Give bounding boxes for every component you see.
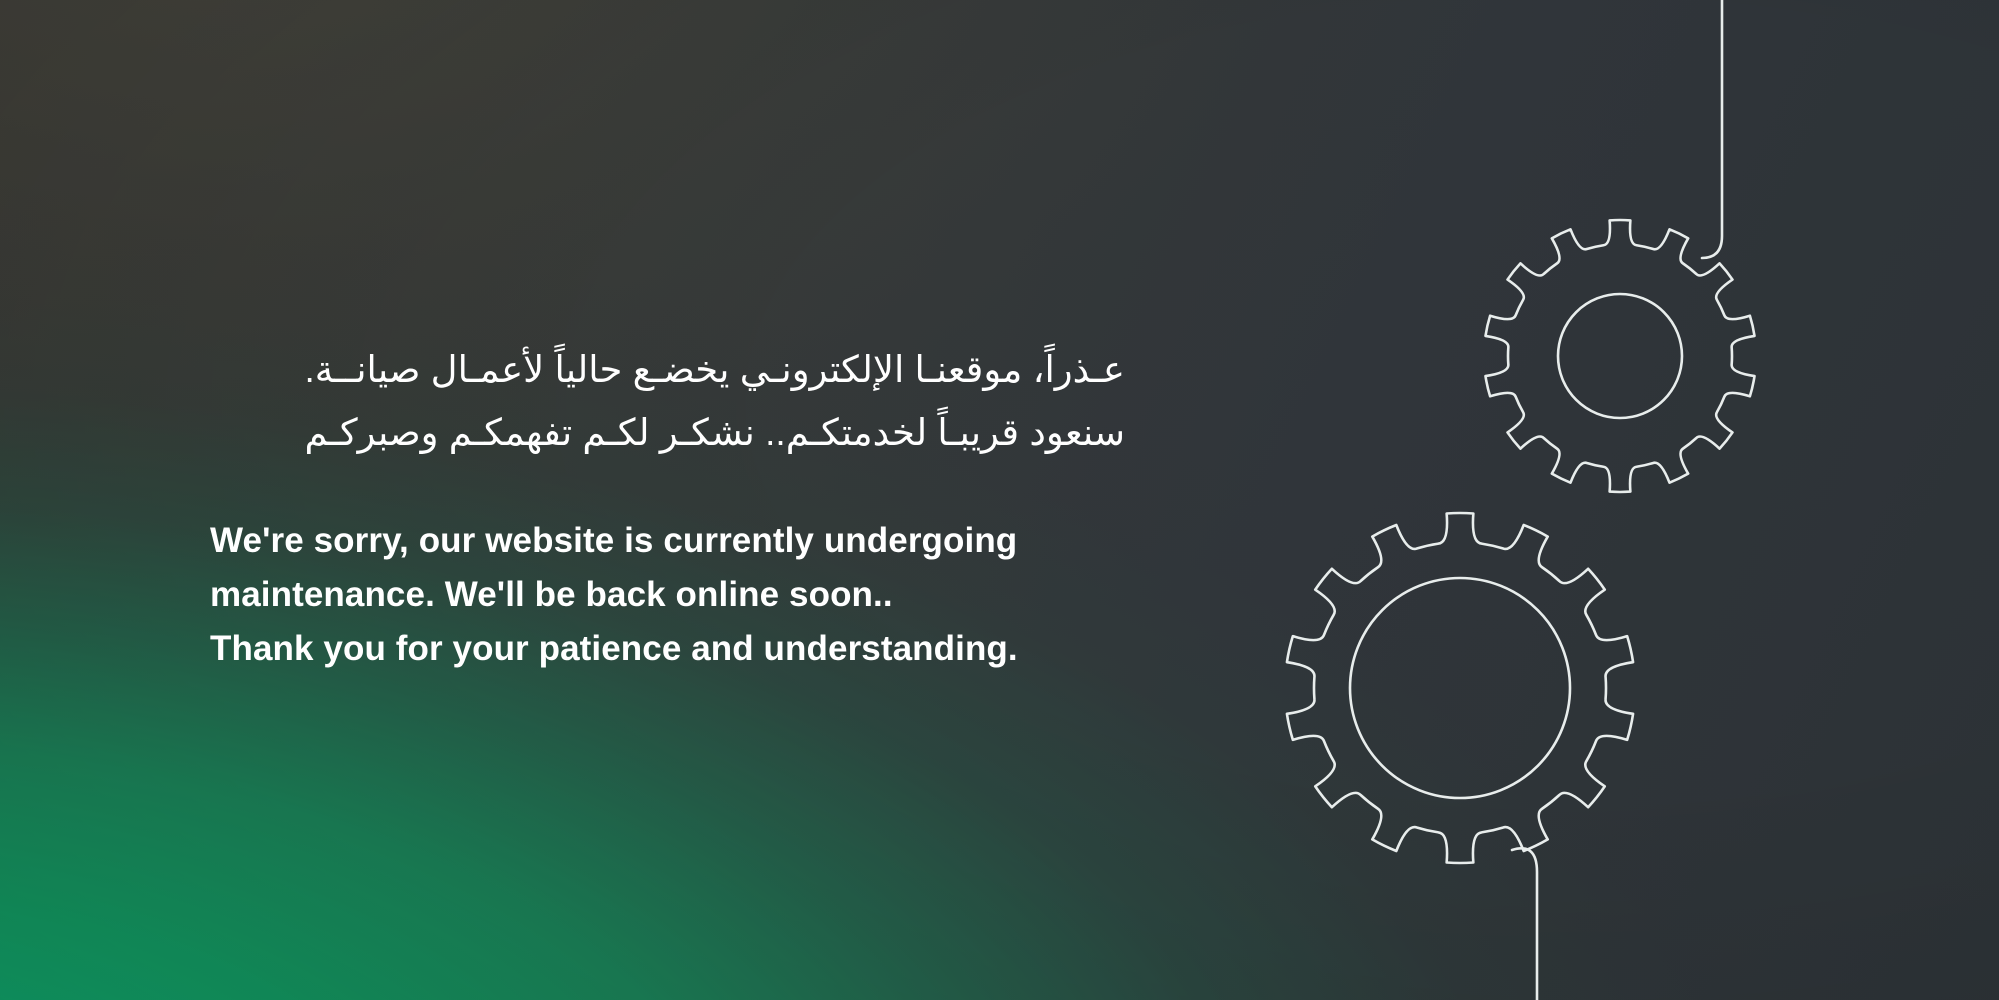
arabic-line-1: عـذراً، موقعنـا الإلكترونـي يخضـع حالياً… — [210, 338, 1125, 401]
english-line-3: Thank you for your patience and understa… — [210, 622, 1140, 676]
english-line-1: We're sorry, our website is currently un… — [210, 514, 1140, 568]
english-message: We're sorry, our website is currently un… — [210, 514, 1140, 676]
english-line-2: maintenance. We'll be back online soon.. — [210, 568, 1140, 622]
arabic-line-2: سنعود قريبـاً لخدمتكـم.. نشكـر لكـم تفهم… — [210, 401, 1125, 464]
message-block: عـذراً، موقعنـا الإلكترونـي يخضـع حالياً… — [210, 338, 1140, 676]
arabic-message: عـذراً، موقعنـا الإلكترونـي يخضـع حالياً… — [210, 338, 1125, 464]
maintenance-page: عـذراً، موقعنـا الإلكترونـي يخضـع حالياً… — [0, 0, 1999, 1000]
